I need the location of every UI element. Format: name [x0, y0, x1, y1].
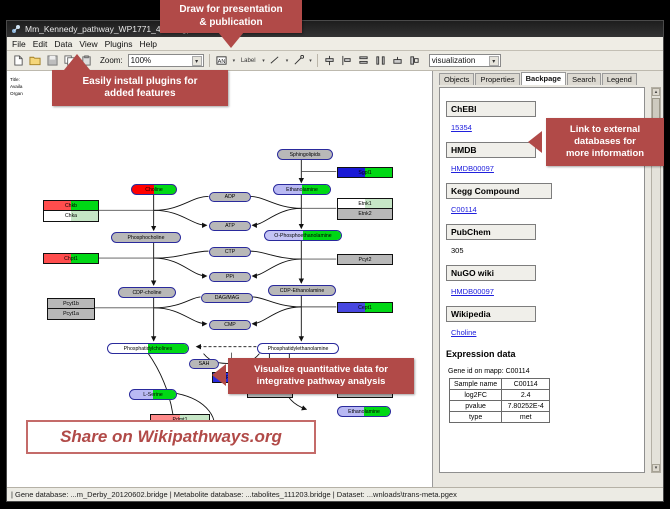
- node-label: Ethanolamine: [348, 409, 380, 415]
- node-phosphatidylcholines[interactable]: Phosphatidylcholines: [107, 343, 189, 354]
- cell-key: pvalue: [450, 401, 502, 412]
- db-header-pubchem: PubChem: [446, 224, 536, 240]
- node-label: CTP: [225, 249, 235, 255]
- cell-key: log2FC: [450, 390, 502, 401]
- db-header-nugowiki: NuGO wiki: [446, 265, 536, 281]
- node-label: Etnk1: [358, 201, 371, 207]
- node-label: DAG/MAG: [215, 295, 240, 301]
- zoom-combo[interactable]: 100% ▾: [128, 54, 204, 67]
- node-label: Chka: [65, 213, 77, 219]
- node-label: PPi: [226, 274, 234, 280]
- db-link-chebi[interactable]: 15354: [451, 123, 472, 132]
- tab-objects[interactable]: Objects: [439, 73, 474, 85]
- callout-links-arrow: [528, 131, 542, 153]
- node-ethanolamine-1[interactable]: Ethanolamine: [273, 184, 331, 195]
- cell-key: type: [450, 412, 502, 423]
- save-icon[interactable]: [45, 54, 59, 68]
- visualization-value: visualization: [432, 56, 476, 65]
- node-sphingolipids[interactable]: Sphingolipids: [277, 149, 333, 160]
- node-label: ATP: [225, 223, 235, 229]
- node-atp[interactable]: ATP: [209, 221, 251, 231]
- node-label: CMP: [224, 322, 236, 328]
- datanode-icon[interactable]: AN: [215, 54, 229, 68]
- label-button[interactable]: Label: [238, 54, 258, 68]
- node-label: Chkb: [65, 203, 77, 209]
- line-icon[interactable]: [268, 54, 282, 68]
- db-link-wikipedia[interactable]: Choline: [451, 328, 476, 337]
- node-pcyt2[interactable]: Pcyt2: [337, 254, 393, 265]
- callout-plugins-arrow: [64, 54, 90, 70]
- node-label: Sphingolipids: [290, 152, 321, 158]
- status-bar: | Gene database: ...m_Derby_20120602.bri…: [7, 487, 663, 501]
- node-label: Pcyt1b: [63, 301, 79, 307]
- gene-id-line: Gene id on mapp: C00114: [448, 368, 644, 375]
- chevron-down-icon[interactable]: ▾: [233, 58, 236, 64]
- node-label: Phosphocholine: [128, 235, 165, 241]
- db-header-kegg: Kegg Compound: [446, 183, 552, 199]
- node-etnk1[interactable]: Etnk1: [337, 198, 393, 209]
- callout-plugins: Easily install plugins foradded features: [52, 70, 228, 106]
- status-text: | Gene database: ...m_Derby_20120602.bri…: [11, 490, 457, 499]
- node-cept1[interactable]: Cept1: [337, 302, 393, 313]
- chevron-down-icon[interactable]: ▾: [286, 58, 289, 64]
- chevron-down-icon[interactable]: ▾: [489, 56, 499, 66]
- chevron-down-icon[interactable]: ▾: [192, 56, 202, 66]
- node-sgpl1[interactable]: Sgpl1: [337, 167, 393, 178]
- db-value-pubchem: 305: [451, 246, 464, 255]
- title-bar: Mm_Kennedy_pathway_WP1771_45176.gpml: [7, 21, 663, 37]
- cell-value: C00114: [502, 379, 550, 390]
- node-label: Choline: [145, 187, 163, 193]
- group-icon[interactable]: [391, 54, 405, 68]
- node-chpt1[interactable]: Chpt1: [43, 253, 99, 264]
- node-label: Sgpl1: [358, 170, 371, 176]
- table-row: Sample name C00114: [450, 379, 550, 390]
- node-label: SAH: [199, 361, 210, 367]
- node-cdp-ethanolamine[interactable]: CDP-Ethanolamine: [268, 285, 336, 296]
- node-adp[interactable]: ADP: [209, 192, 251, 202]
- menu-item-help[interactable]: Help: [140, 39, 157, 49]
- open-folder-icon[interactable]: [28, 54, 42, 68]
- db-link-hmdb[interactable]: HMDB00097: [451, 164, 494, 173]
- node-pcyt1b[interactable]: Pcyt1b: [47, 298, 95, 309]
- chevron-down-icon[interactable]: ▾: [262, 58, 265, 64]
- order-icon[interactable]: [408, 54, 422, 68]
- node-label: CDP-choline: [132, 290, 161, 296]
- callout-share: Share on Wikipathways.org: [26, 420, 316, 454]
- node-chka[interactable]: Chka: [43, 211, 99, 222]
- expression-table: Sample name C00114 log2FC 2.4 pvalue 7.8…: [449, 378, 550, 423]
- node-label: CDP-Ethanolamine: [280, 288, 324, 294]
- node-label: Etnk2: [358, 211, 371, 217]
- pathvisio-icon: [11, 24, 21, 34]
- new-file-icon[interactable]: [11, 54, 25, 68]
- node-label: Ethanolamine: [286, 187, 318, 193]
- tab-legend[interactable]: Legend: [602, 73, 637, 85]
- node-ethanolamine-2[interactable]: Ethanolamine: [337, 406, 391, 417]
- zoom-label: Zoom:: [100, 56, 123, 65]
- menu-item-file[interactable]: File: [12, 39, 26, 49]
- svg-text:AN: AN: [218, 59, 226, 65]
- callout-visualize-arrow: [212, 364, 226, 386]
- node-ppi[interactable]: PPi: [209, 272, 251, 282]
- stack-icon[interactable]: [357, 54, 371, 68]
- cell-value: 2.4: [502, 390, 550, 401]
- expression-data-header: Expression data: [446, 349, 644, 359]
- scroll-up-arrow[interactable]: ▴: [652, 88, 660, 96]
- node-chkb[interactable]: Chkb: [43, 200, 99, 211]
- menu-item-edit[interactable]: Edit: [33, 39, 48, 49]
- menu-bar: File Edit Data View Plugins Help: [7, 37, 663, 51]
- callout-share-text: Share on Wikipathways.org: [60, 427, 282, 447]
- node-label: Pcyt2: [359, 257, 372, 263]
- node-dag-mag[interactable]: DAG/MAG: [201, 293, 253, 303]
- toolbar-separator: [317, 54, 318, 67]
- menu-item-data[interactable]: Data: [54, 39, 72, 49]
- node-pcyt1a[interactable]: Pcyt1a: [47, 309, 95, 320]
- tab-search[interactable]: Search: [567, 73, 601, 85]
- db-header-hmdb: HMDB: [446, 142, 536, 158]
- node-o-phosphoethanolamine[interactable]: O-Phosphoethanolamine: [264, 230, 342, 241]
- zoom-value: 100%: [131, 56, 151, 65]
- cell-key: Sample name: [450, 379, 502, 390]
- side-panel-tabs: Objects Properties Backpage Search Legen…: [433, 71, 663, 85]
- align-center-icon[interactable]: [323, 54, 337, 68]
- table-row: log2FC 2.4: [450, 390, 550, 401]
- node-cmp[interactable]: CMP: [209, 320, 251, 330]
- anchor-icon[interactable]: [291, 54, 305, 68]
- callout-links-text: Link to externaldatabases formore inform…: [566, 124, 644, 160]
- node-label: Phosphatidylethanolamine: [268, 346, 329, 352]
- tab-properties[interactable]: Properties: [475, 73, 519, 85]
- node-choline-1[interactable]: Choline: [131, 184, 177, 195]
- tab-backpage[interactable]: Backpage: [521, 72, 566, 85]
- menu-item-plugins[interactable]: Plugins: [105, 39, 133, 49]
- callout-draw-text: Draw for presentation& publication: [179, 4, 282, 29]
- toolbar-separator: [209, 54, 210, 67]
- node-label: L-Serine: [143, 392, 163, 398]
- callout-visualize-text: Visualize quantitative data forintegrati…: [254, 364, 388, 388]
- cell-value: 7.80252E-4: [502, 401, 550, 412]
- node-label: O-Phosphoethanolamine: [274, 233, 331, 239]
- node-label: Pcyt1a: [63, 311, 79, 317]
- callout-draw-arrow: [218, 32, 244, 48]
- node-l-serine-left[interactable]: L-Serine: [129, 389, 177, 400]
- db-link-nugowiki[interactable]: HMDB00097: [451, 287, 494, 296]
- node-label: ADP: [225, 194, 236, 200]
- scroll-down-arrow[interactable]: ▾: [652, 464, 660, 472]
- callout-plugins-text: Easily install plugins foradded features: [82, 76, 197, 101]
- node-phosphocholine[interactable]: Phosphocholine: [111, 232, 181, 243]
- callout-visualize: Visualize quantitative data forintegrati…: [228, 358, 414, 394]
- node-cdp-choline[interactable]: CDP-choline: [118, 287, 176, 298]
- node-label: Phosphatidylcholines: [124, 346, 173, 352]
- node-label: Cept1: [358, 305, 372, 311]
- table-row: pvalue 7.80252E-4: [450, 401, 550, 412]
- node-phosphatidylethanolamine[interactable]: Phosphatidylethanolamine: [257, 343, 339, 354]
- db-header-wikipedia: Wikipedia: [446, 306, 536, 322]
- db-link-kegg[interactable]: C00114: [451, 205, 477, 214]
- cell-value: met: [502, 412, 550, 423]
- callout-draw: Draw for presentation& publication: [160, 0, 302, 33]
- toolbar: Zoom: 100% ▾ AN ▾ Label ▾ ▾ ▾: [7, 51, 663, 71]
- visualization-combo[interactable]: visualization ▾: [429, 54, 501, 67]
- align-left-icon[interactable]: [340, 54, 354, 68]
- node-etnk2[interactable]: Etnk2: [337, 209, 393, 220]
- node-ctp[interactable]: CTP: [209, 247, 251, 257]
- menu-item-view[interactable]: View: [79, 39, 97, 49]
- db-header-chebi: ChEBI: [446, 101, 536, 117]
- node-label: Chpt1: [64, 256, 78, 262]
- distribute-icon[interactable]: [374, 54, 388, 68]
- table-row: type met: [450, 412, 550, 423]
- callout-links: Link to externaldatabases formore inform…: [546, 118, 664, 166]
- chevron-down-icon[interactable]: ▾: [309, 58, 312, 64]
